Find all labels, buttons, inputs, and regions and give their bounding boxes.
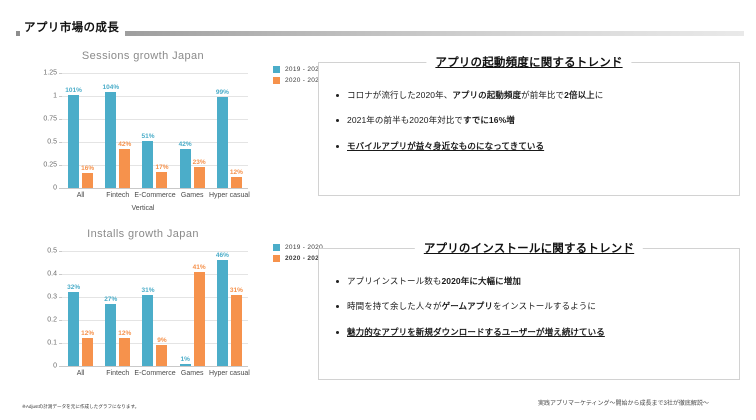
bullet-text: 魅力的なアプリを新規ダウンロードするユーザーが増え続けている (347, 326, 605, 338)
plot-area: 00.10.20.30.40.532%12%All27%12%Fintech31… (62, 251, 248, 366)
callout-install-trend: アプリのインストールに関するトレンド アプリインストール数も2020年に大幅に増… (318, 248, 740, 380)
bar-group: 42%23%Games (174, 73, 211, 188)
bar-group: 104%42%Fintech (99, 73, 136, 188)
source-note: ※Adjustの計測データを元に作成したグラフになります。 (22, 404, 139, 410)
legend-item: 2019 - 2020 (273, 66, 323, 73)
bullet-text: アプリインストール数も2020年に大幅に増加 (347, 275, 521, 287)
x-axis-tick-label: Hyper casual (209, 192, 250, 199)
bar-group: 27%12%Fintech (99, 251, 136, 366)
callout-app-launch-trend: アプリの起動頻度に関するトレンド コロナが流行した2020年、アプリの起動頻度が… (318, 62, 740, 196)
y-axis-tick-label: 0.5 (47, 248, 57, 255)
bar-group: 51%17%E-Commerce (136, 73, 173, 188)
bar: 17% (156, 172, 167, 188)
bar-value-label: 101% (65, 87, 82, 94)
bar-group: 99%12%Hyper casual (211, 73, 248, 188)
bullet-dot-icon (336, 119, 339, 122)
bar: 23% (194, 167, 205, 188)
x-axis-title: Vertical (28, 205, 258, 212)
plot-area: 00.250.50.7511.25101%16%All104%42%Fintec… (62, 73, 248, 188)
bar-value-label: 31% (230, 287, 243, 294)
bullet-dot-icon (336, 94, 339, 97)
legend-item: 2020 - 2021 (273, 77, 323, 84)
chart-legend: 2019 - 20202020 - 2021 (273, 244, 323, 266)
bar: 41% (194, 272, 205, 366)
legend-swatch-icon (273, 77, 280, 84)
bar: 46% (217, 260, 228, 366)
y-axis-tick-label: 0.3 (47, 294, 57, 301)
callout-title: アプリのインストールに関するトレンド (415, 240, 643, 256)
bar: 12% (231, 177, 242, 188)
bar: 12% (119, 338, 130, 366)
bullet-item: 魅力的なアプリを新規ダウンロードするユーザーが増え続けている (336, 326, 729, 338)
callout-bullet-list: コロナが流行した2020年、アプリの起動頻度が前年比で2倍以上に2021年の前半… (336, 89, 729, 165)
bullet-item: アプリインストール数も2020年に大幅に増加 (336, 275, 729, 287)
legend-item: 2020 - 2021 (273, 255, 323, 262)
bullet-text: 2021年の前半も2020年対比ですでに16%増 (347, 114, 515, 126)
x-axis-tick-label: Hyper casual (209, 370, 250, 377)
x-axis-tick-label: All (77, 370, 85, 377)
x-axis-tick-label: E-Commerce (134, 370, 175, 377)
x-axis-tick-label: E-Commerce (134, 192, 175, 199)
bar: 101% (68, 95, 79, 188)
x-axis-line (62, 366, 248, 367)
y-tick-mark (59, 188, 62, 189)
y-axis-tick-label: 1.25 (43, 70, 57, 77)
y-axis-tick-label: 0.75 (43, 116, 57, 123)
chart-installs-growth: Installs growth Japan 00.10.20.30.40.532… (18, 228, 348, 398)
bar-value-label: 16% (81, 165, 94, 172)
bullet-text: コロナが流行した2020年、アプリの起動頻度が前年比で2倍以上に (347, 89, 603, 101)
bar-value-label: 12% (81, 330, 94, 337)
bar-value-label: 41% (193, 264, 206, 271)
bar-value-label: 104% (102, 84, 119, 91)
bar-group: 46%31%Hyper casual (211, 251, 248, 366)
bullet-dot-icon (336, 145, 339, 148)
bar: 9% (156, 345, 167, 366)
y-axis-tick-label: 0.1 (47, 340, 57, 347)
bar-group: 32%12%All (62, 251, 99, 366)
bar: 31% (231, 295, 242, 366)
bar: 1% (180, 364, 191, 366)
bar-value-label: 46% (216, 252, 229, 259)
bullet-text: モバイルアプリが益々身近なものになってきている (347, 140, 544, 152)
slide: アプリ市場の成長 Sessions growth Japan 00.250.50… (0, 0, 756, 420)
legend-swatch-icon (273, 255, 280, 262)
chart-title: Sessions growth Japan (28, 50, 258, 62)
y-axis-tick-label: 0.25 (43, 162, 57, 169)
bar-value-label: 1% (180, 356, 189, 363)
bullet-item: 時間を持て余した人々がゲームアプリをインストールするように (336, 300, 729, 312)
bullet-text: 時間を持て余した人々がゲームアプリをインストールするように (347, 300, 596, 312)
bullet-dot-icon (336, 331, 339, 334)
bullet-dot-icon (336, 280, 339, 283)
slide-header: アプリ市場の成長 (0, 20, 756, 38)
bar: 51% (142, 141, 153, 188)
bar-value-label: 42% (179, 141, 192, 148)
bar-value-label: 9% (157, 337, 166, 344)
bar-value-label: 12% (118, 330, 131, 337)
bar: 31% (142, 295, 153, 366)
legend-swatch-icon (273, 66, 280, 73)
bar-value-label: 27% (104, 296, 117, 303)
y-axis-tick-label: 0.4 (47, 271, 57, 278)
bar: 12% (82, 338, 93, 366)
bar: 42% (180, 149, 191, 188)
x-axis-tick-label: Games (181, 370, 204, 377)
bar: 104% (105, 92, 116, 188)
page-title: アプリ市場の成長 (20, 20, 125, 37)
x-axis-tick-label: All (77, 192, 85, 199)
bar: 99% (217, 97, 228, 188)
bullet-item: モバイルアプリが益々身近なものになってきている (336, 140, 729, 152)
bullet-item: 2021年の前半も2020年対比ですでに16%増 (336, 114, 729, 126)
bar: 27% (105, 304, 116, 366)
footer-note: 実践アプリマーケティング〜開始から成長まで3社が徹底解説〜 (538, 398, 709, 407)
bar-group: 1%41%Games (174, 251, 211, 366)
bullet-dot-icon (336, 305, 339, 308)
x-axis-line (62, 188, 248, 189)
x-axis-tick-label: Games (181, 192, 204, 199)
bar: 16% (82, 173, 93, 188)
y-axis-tick-label: 0.2 (47, 317, 57, 324)
callout-title: アプリの起動頻度に関するトレンド (426, 54, 631, 70)
bar-group: 101%16%All (62, 73, 99, 188)
chart-legend: 2019 - 20202020 - 2021 (273, 66, 323, 88)
bar-value-label: 42% (118, 141, 131, 148)
x-axis-tick-label: Fintech (106, 370, 129, 377)
bar-value-label: 17% (155, 164, 168, 171)
bar-value-label: 32% (67, 284, 80, 291)
legend-item: 2019 - 2020 (273, 244, 323, 251)
bar: 32% (68, 292, 79, 366)
bar-value-label: 99% (216, 89, 229, 96)
bar: 42% (119, 149, 130, 188)
bullet-item: コロナが流行した2020年、アプリの起動頻度が前年比で2倍以上に (336, 89, 729, 101)
x-axis-tick-label: Fintech (106, 192, 129, 199)
legend-swatch-icon (273, 244, 280, 251)
bar-value-label: 51% (141, 133, 154, 140)
chart-sessions-growth: Sessions growth Japan 00.250.50.7511.251… (18, 50, 348, 220)
y-axis-tick-label: 0 (53, 363, 57, 370)
y-axis-tick-label: 1 (53, 93, 57, 100)
y-axis-tick-label: 0 (53, 185, 57, 192)
y-tick-mark (59, 366, 62, 367)
chart-title: Installs growth Japan (28, 228, 258, 240)
bar-value-label: 12% (230, 169, 243, 176)
bar-value-label: 23% (193, 159, 206, 166)
y-axis-tick-label: 0.5 (47, 139, 57, 146)
bar-value-label: 31% (141, 287, 154, 294)
bar-group: 31%9%E-Commerce (136, 251, 173, 366)
callout-bullet-list: アプリインストール数も2020年に大幅に増加時間を持て余した人々がゲームアプリを… (336, 275, 729, 351)
